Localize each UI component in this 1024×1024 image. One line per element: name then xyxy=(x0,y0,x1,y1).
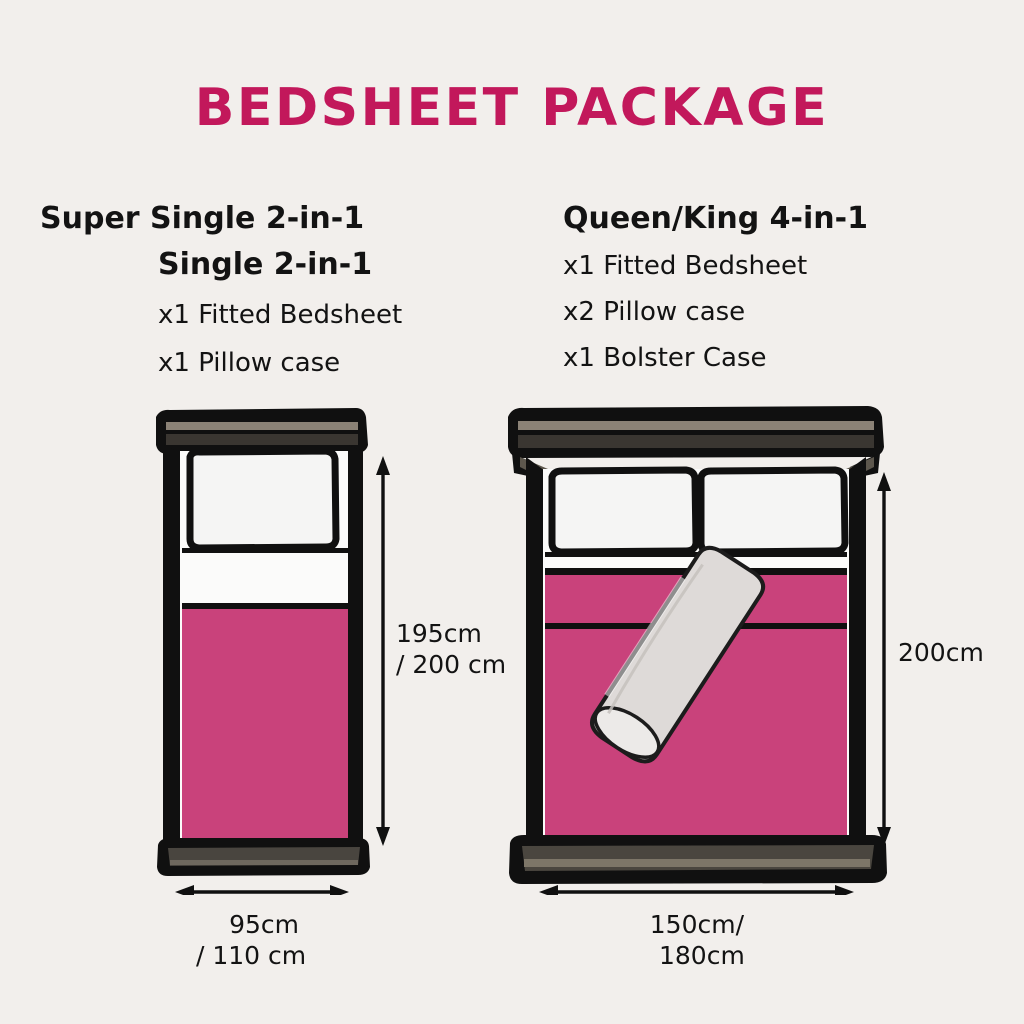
queen-width-label: 150cm/ 180cm xyxy=(645,909,745,971)
fitted-bedsheet xyxy=(182,609,348,853)
package-item-bolster-case: x1 Bolster Case xyxy=(563,345,983,371)
single-width-label: 95cm / 110 cm xyxy=(196,909,306,971)
height-dimension-arrow xyxy=(376,456,390,846)
package-heading-queen-king: Queen/King 4-in-1 xyxy=(563,204,983,234)
package-item-pillow-case: x1 Pillow case xyxy=(40,350,460,376)
queen-height-label: 200cm xyxy=(898,637,984,668)
package-item-fitted-bedsheet: x1 Fitted Bedsheet xyxy=(563,253,983,279)
width-dimension-arrow xyxy=(539,885,854,895)
top-sheet-band xyxy=(182,548,348,609)
package-heading-super-single: Super Single 2-in-1 xyxy=(40,204,460,234)
queen-height-line1: 200cm xyxy=(898,638,984,667)
single-height-label: 195cm / 200 cm xyxy=(396,618,506,680)
single-height-line2: / 200 cm xyxy=(396,649,506,680)
pillow-left xyxy=(552,470,696,552)
headboard xyxy=(156,408,368,454)
package-block-queen-king: Queen/King 4-in-1 x1 Fitted Bedsheet x2 … xyxy=(563,204,983,371)
package-heading-single: Single 2-in-1 xyxy=(40,250,460,280)
package-block-super-single: Super Single 2-in-1 Single 2-in-1 x1 Fit… xyxy=(40,204,460,376)
package-item-pillow-case: x2 Pillow case xyxy=(563,299,983,325)
pillow xyxy=(190,451,336,548)
height-dimension-arrow xyxy=(877,472,891,846)
width-dimension-arrow xyxy=(175,885,349,895)
poster-canvas: BEDSHEET PACKAGE Super Single 2-in-1 Sin… xyxy=(0,0,1024,1024)
single-width-line2: / 110 cm xyxy=(196,940,306,971)
footboard xyxy=(509,835,887,884)
pillow-right xyxy=(701,470,845,552)
footboard xyxy=(157,838,370,876)
single-width-line1: 95cm xyxy=(196,909,306,940)
queen-width-line2: 180cm xyxy=(645,940,745,971)
single-bed-illustration xyxy=(120,395,440,895)
queen-width-line1: 150cm/ xyxy=(645,909,745,940)
single-height-line1: 195cm xyxy=(396,619,482,648)
page-title: BEDSHEET PACKAGE xyxy=(0,78,1024,138)
package-item-fitted-bedsheet: x1 Fitted Bedsheet xyxy=(40,302,460,328)
queen-bed-illustration xyxy=(490,395,930,895)
